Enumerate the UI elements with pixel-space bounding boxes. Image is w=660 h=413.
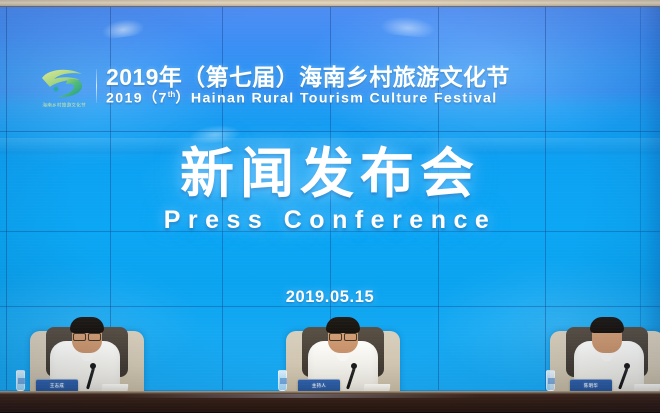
speaker-left: 王志成: [28, 314, 146, 391]
water-bottle: [546, 370, 555, 391]
main-title-block: 新闻发布会 Press Conference: [0, 147, 660, 233]
festival-header-lockup: 海南乡村旅游文化节 2019年（第七届）海南乡村旅游文化节 2019（7th）H…: [36, 57, 636, 115]
event-date: 2019.05.15: [0, 288, 660, 307]
press-conference-photo: 海南乡村旅游文化节 2019年（第七届）海南乡村旅游文化节 2019（7th）H…: [0, 0, 660, 413]
logo-divider: [96, 69, 97, 103]
festival-title-en-prefix: 2019（7: [106, 91, 168, 107]
festival-logo-icon: 海南乡村旅游文化节: [36, 60, 92, 112]
festival-title-cn: 2019年（第七届）海南乡村旅游文化节: [106, 65, 510, 89]
documents: [634, 384, 660, 391]
water-bottle: [278, 370, 287, 391]
hair: [590, 317, 624, 333]
speaker-center: 主持人: [284, 314, 402, 391]
hair: [326, 317, 360, 333]
festival-header-text: 2019年（第七届）海南乡村旅游文化节 2019（7th）Hainan Rura…: [106, 65, 510, 107]
conference-table: [0, 391, 660, 413]
microphone-head: [624, 363, 630, 369]
festival-title-en: 2019（7th）Hainan Rural Tourism Culture Fe…: [106, 90, 510, 107]
name-placard-text: 王志成: [50, 383, 64, 389]
name-placard-text: 主持人: [312, 383, 326, 389]
speaker-right: 陈明华: [548, 314, 660, 391]
microphone-head: [90, 363, 96, 369]
press-conference-title-cn: 新闻发布会: [0, 147, 660, 201]
microphone-head: [351, 363, 357, 369]
panel-seam-horizontal: [0, 131, 660, 132]
festival-logo-caption: 海南乡村旅游文化节: [42, 101, 86, 108]
glasses-icon: [329, 333, 357, 339]
press-conference-title-en: Press Conference: [0, 208, 660, 233]
festival-title-en-suffix: ）Hainan Rural Tourism Culture Festival: [175, 91, 497, 107]
hair: [70, 317, 104, 333]
glasses-icon: [73, 333, 101, 339]
documents: [364, 384, 391, 391]
documents: [102, 384, 129, 391]
table-sheen: [120, 394, 480, 398]
water-bottle: [16, 370, 25, 391]
name-placard-text: 陈明华: [584, 383, 598, 389]
